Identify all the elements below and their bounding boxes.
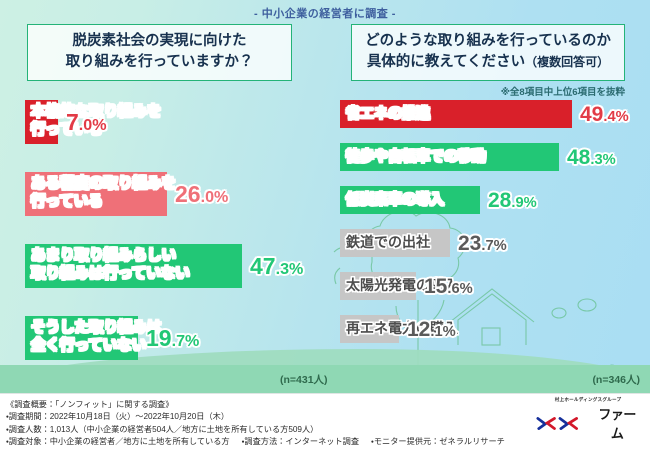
- bar-value: 23.7%: [458, 233, 507, 254]
- bar-value-integer: 15: [424, 275, 447, 298]
- bar-value-integer: 26: [175, 181, 201, 207]
- logo-group-name: 村上ホールディングスグループ: [536, 397, 640, 403]
- footer-monitor: ・モニター提供元：ゼネラルリサーチ: [371, 436, 505, 448]
- footer-method: ・調査方法：インターネット調査: [242, 436, 359, 448]
- bar-value-decimal: .9%: [511, 195, 536, 211]
- bar-fill: 低炭素車の導入: [340, 186, 480, 214]
- bar-value: 19.7%: [146, 327, 199, 350]
- bar-value-integer: 49: [580, 103, 603, 126]
- bar-value: 47.3%: [250, 255, 303, 278]
- bar-label: あまり取り組みらしい取り組みは行っていない: [31, 248, 190, 282]
- bar-value-decimal: .0%: [79, 116, 107, 134]
- bar-fill: 省エネの推進: [340, 100, 572, 128]
- bar-row: 徒歩や自転車での移動48.3%: [325, 143, 650, 171]
- bar-label: 鉄道での出社: [346, 234, 430, 251]
- logo-mark: ファーム: [536, 404, 640, 442]
- bar-value: 48.3%: [567, 147, 616, 168]
- bar-fill: あまり取り組みらしい取り組みは行っていない: [25, 244, 242, 288]
- bar-value-integer: 48: [567, 146, 590, 169]
- bar-label: ある程度の取り組みを行っている: [31, 176, 176, 210]
- bar-fill: 鉄道での出社: [340, 229, 450, 257]
- bar-fill: そうした取り組みは全く行っていない: [25, 316, 138, 360]
- bar-value-decimal: .1%: [430, 324, 455, 340]
- bar-label-line2: 全く行っていない: [31, 338, 162, 355]
- bar-value-decimal: .7%: [172, 332, 200, 350]
- bar-value-integer: 7: [66, 109, 79, 135]
- bar-value: 49.4%: [580, 104, 629, 125]
- sample-size-left: (n=431人): [280, 372, 328, 387]
- bar-fill: 再エネ電力の購入: [340, 315, 399, 343]
- bar-value-decimal: .3%: [276, 260, 304, 278]
- chart-right: 省エネの推進49.4%徒歩や自転車での移動48.3%低炭素車の導入28.9%鉄道…: [325, 100, 650, 358]
- sample-size-right: (n=346人): [592, 372, 640, 387]
- bar-value-integer: 19: [146, 325, 172, 351]
- bar-fill: 太陽光発電の導入: [340, 272, 416, 300]
- bar-row: 省エネの推進49.4%: [325, 100, 650, 128]
- bar-value-decimal: .0%: [201, 188, 229, 206]
- bar-value: 15.6%: [424, 276, 473, 297]
- bar-fill: 徒歩や自転車での移動: [340, 143, 559, 171]
- question-right-line1: どのような取り組みを行っているのか: [362, 31, 614, 52]
- bar-value: 12.1%: [407, 319, 456, 340]
- bar-value-decimal: .7%: [481, 238, 506, 254]
- bar-fill: 本格的な取り組みを行っている: [25, 100, 58, 144]
- bar-value: 26.0%: [175, 183, 228, 206]
- question-box-right: どのような取り組みを行っているのか 具体的に教えてください（複数回答可）: [351, 24, 625, 81]
- question-right-line2: 具体的に教えてください（複数回答可）: [362, 52, 614, 73]
- footer: 《調査概要：「ノンフィット」に関する調査》 ・調査期間：2022年10月18日（…: [0, 393, 650, 450]
- bar-label: 徒歩や自転車での移動: [346, 148, 486, 165]
- logo-wordmark: ファーム: [594, 404, 640, 442]
- bar-value-decimal: .4%: [603, 109, 628, 125]
- excerpt-note: ※全8項目中上位6項目を抜粋: [501, 84, 625, 98]
- infographic-poster: - 中小企業の経営者に調査 - 脱炭素社会の実現に向けた 取り組みを行っています…: [0, 0, 650, 450]
- tokutoku-mark-icon: [536, 416, 593, 431]
- bar-value-integer: 28: [488, 189, 511, 212]
- bar-value: 7.0%: [66, 111, 107, 134]
- bar-value-integer: 23: [458, 232, 481, 255]
- bar-row: 低炭素車の導入28.9%: [325, 186, 650, 214]
- sample-size-band: (n=431人) (n=346人): [0, 365, 650, 393]
- company-logo[interactable]: 村上ホールディングスグループ ファーム: [536, 397, 640, 442]
- bar-row: 鉄道での出社23.7%: [325, 229, 650, 257]
- bar-row: そうした取り組みは全く行っていない19.7%: [0, 316, 325, 360]
- bar-fill: ある程度の取り組みを行っている: [25, 172, 167, 216]
- bar-value-integer: 12: [407, 318, 430, 341]
- bar-value: 28.9%: [488, 190, 537, 211]
- bar-label-line2: 取り組みは行っていない: [31, 266, 190, 283]
- bar-label-line2: 行っている: [31, 194, 176, 211]
- question-right-line2-main: 具体的に教えてください: [367, 54, 525, 70]
- bar-value-decimal: .3%: [590, 152, 615, 168]
- bar-row: 再エネ電力の購入12.1%: [325, 315, 650, 343]
- page-caption: - 中小企業の経営者に調査 -: [0, 5, 650, 21]
- bar-label: 低炭素車の導入: [346, 191, 444, 208]
- question-right-line2-sub: （複数回答可）: [525, 55, 609, 69]
- footer-target: ・調査対象：中小企業の経営者／地方に土地を所有している方: [6, 436, 230, 448]
- bar-label: そうした取り組みは全く行っていない: [31, 320, 162, 354]
- bar-label: 省エネの推進: [346, 105, 430, 122]
- bar-row: ある程度の取り組みを行っている26.0%: [0, 172, 325, 216]
- bar-row: 本格的な取り組みを行っている7.0%: [0, 100, 325, 144]
- bar-value-integer: 47: [250, 253, 276, 279]
- bar-row: あまり取り組みらしい取り組みは行っていない47.3%: [0, 244, 325, 288]
- question-box-left: 脱炭素社会の実現に向けた 取り組みを行っていますか？: [27, 24, 292, 81]
- chart-left: 本格的な取り組みを行っている7.0%ある程度の取り組みを行っている26.0%あま…: [0, 100, 325, 388]
- question-left-line2: 取り組みを行っていますか？: [38, 52, 281, 73]
- question-left-line1: 脱炭素社会の実現に向けた: [38, 31, 281, 52]
- bar-row: 太陽光発電の導入15.6%: [325, 272, 650, 300]
- bar-value-decimal: .6%: [447, 281, 472, 297]
